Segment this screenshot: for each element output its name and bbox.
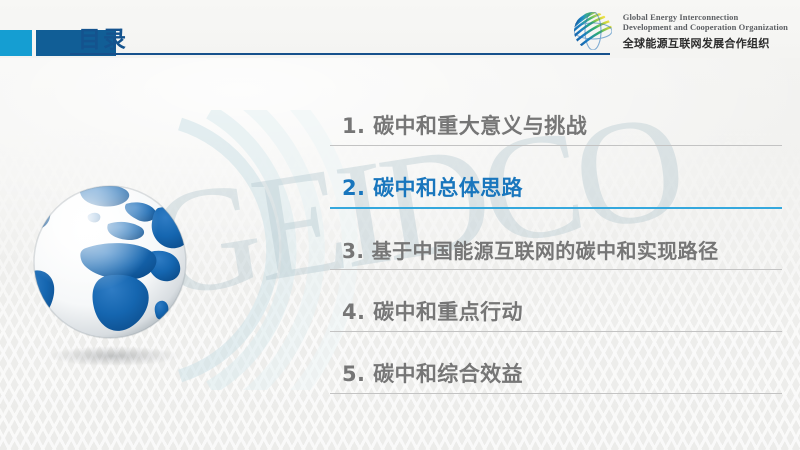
toc-item-1-label: 1. 碳中和重大意义与挑战	[342, 110, 587, 140]
presentation-slide: GEIDCO	[0, 0, 800, 450]
toc-item-4[interactable]: 4. 碳中和重点行动	[330, 274, 790, 336]
organization-logo: Global Energy Interconnection Developmen…	[570, 8, 788, 54]
table-of-contents: 1. 碳中和重大意义与挑战 2. 碳中和总体思路 3. 基于中国能源互联网的碳中…	[330, 88, 790, 398]
toc-item-2-label: 2. 碳中和总体思路	[342, 172, 523, 202]
title-divider	[70, 53, 610, 55]
toc-item-3-label: 3. 基于中国能源互联网的碳中和实现路径	[342, 235, 718, 264]
toc-item-5-label: 5. 碳中和综合效益	[342, 358, 523, 388]
toc-item-1[interactable]: 1. 碳中和重大意义与挑战	[330, 88, 790, 150]
toc-item-4-underline	[330, 331, 782, 332]
earth-globe-illustration	[22, 178, 212, 373]
logo-english-line1: Global Energy Interconnection	[623, 12, 788, 23]
logo-chinese-name: 全球能源互联网发展合作组织	[623, 35, 788, 51]
toc-item-2[interactable]: 2. 碳中和总体思路	[330, 150, 790, 212]
geidco-globe-logo	[570, 8, 616, 54]
header-accent-cyan	[0, 30, 32, 56]
page-title: 目录	[78, 20, 128, 54]
toc-item-3[interactable]: 3. 基于中国能源互联网的碳中和实现路径	[330, 212, 790, 274]
logo-english-line2: Development and Cooperation Organization	[623, 22, 788, 33]
toc-item-1-underline	[330, 145, 782, 146]
toc-item-2-underline	[330, 207, 782, 209]
toc-item-5-underline	[330, 393, 782, 394]
toc-item-5[interactable]: 5. 碳中和综合效益	[330, 336, 790, 398]
toc-item-4-label: 4. 碳中和重点行动	[342, 296, 523, 326]
toc-item-3-underline	[330, 269, 782, 270]
